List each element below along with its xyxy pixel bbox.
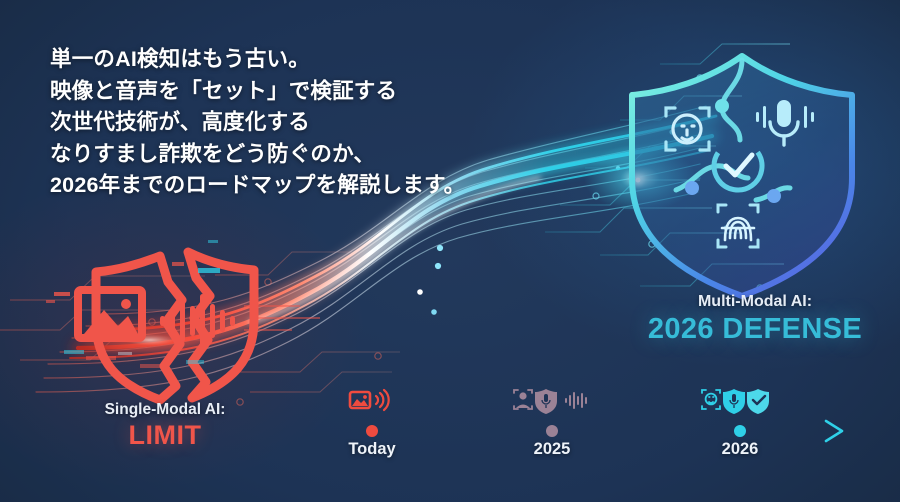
left-caption-big: LIMIT (45, 420, 285, 451)
headline-line-5: 2026年までのロードマップを解説します。 (50, 170, 480, 202)
right-caption-sub: Multi-Modal AI: (610, 292, 900, 313)
left-caption-sub: Single-Modal AI: (45, 400, 285, 420)
infographic-canvas: 単一のAI検知はもう古い。 映像と音声を「セット」で検証する 次世代技術が、高度… (0, 0, 900, 502)
milestone-icons-today (350, 390, 389, 410)
headline: 単一のAI検知はもう古い。 映像と音声を「セット」で検証する 次世代技術が、高度… (50, 44, 480, 202)
headline-line-2: 映像と音声を「セット」で検証する (50, 76, 480, 108)
multimodal-shield-icon (632, 56, 852, 296)
headline-line-1: 単一のAI検知はもう古い。 (50, 44, 480, 76)
timeline-label-2025: 2025 (492, 440, 612, 459)
right-caption: Multi-Modal AI: 2026 DEFENSE (610, 292, 900, 346)
left-caption: Single-Modal AI: LIMIT (45, 400, 285, 451)
headline-line-4: なりすまし詐欺をどう防ぐのか、 (50, 139, 480, 171)
timeline-label-today: Today (312, 440, 432, 459)
headline-line-3: 次世代技術が、高度化する (50, 107, 480, 139)
right-caption-big: 2026 DEFENSE (610, 313, 900, 346)
milestone-icons-2026 (702, 389, 769, 414)
timeline-axis (268, 421, 842, 441)
milestone-icons-2025 (514, 389, 587, 414)
timeline-label-2026: 2026 (680, 440, 800, 459)
